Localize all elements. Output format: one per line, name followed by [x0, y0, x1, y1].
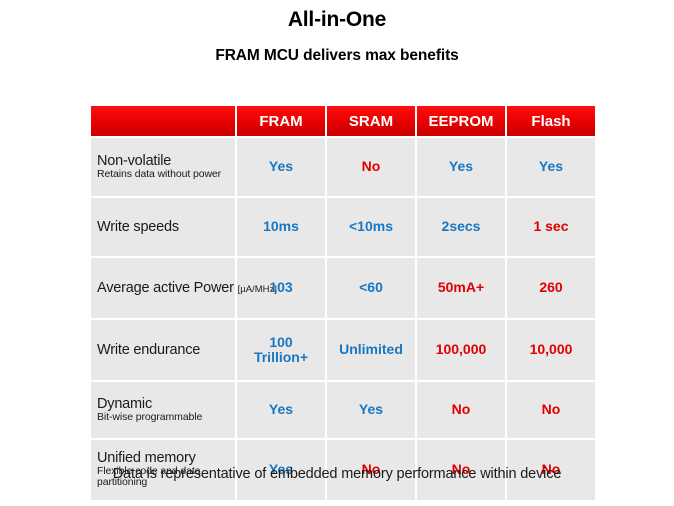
table-cell-value: No [327, 138, 415, 196]
table-cell-value: 10,000 [507, 320, 595, 380]
table-cell-value: 50mA+ [417, 258, 505, 318]
table-body: Non-volatileRetains data without powerYe… [91, 138, 595, 500]
row-label-sub: Bit-wise programmable [97, 412, 231, 424]
column-header-flash: Flash [507, 106, 595, 136]
page-subtitle: FRAM MCU delivers max benefits [0, 47, 674, 65]
row-label-cell: Write speeds [91, 198, 235, 256]
row-label-cell: Average active Power [µA/MHz] [91, 258, 235, 318]
row-label-cell: Write endurance [91, 320, 235, 380]
column-header-blank [91, 106, 235, 136]
table-row: Write endurance100Trillion+Unlimited100,… [91, 320, 595, 380]
column-header-fram: FRAM [237, 106, 325, 136]
table-cell-value: Yes [237, 138, 325, 196]
page-title: All-in-One [0, 8, 674, 32]
table-cell-value: <60 [327, 258, 415, 318]
table-cell-value: Yes [417, 138, 505, 196]
table-header-row: FRAM SRAM EEPROM Flash [91, 106, 595, 136]
table-row: Write speeds10ms<10ms2secs1 sec [91, 198, 595, 256]
table-cell-value: Unlimited [327, 320, 415, 380]
table-row: DynamicBit-wise programmableYesYesNoNo [91, 382, 595, 438]
row-label-main: Write endurance [97, 343, 231, 358]
row-label-main: Write speeds [97, 220, 231, 235]
table-cell-value: No [507, 382, 595, 438]
row-label-main: Average active Power [µA/MHz] [97, 281, 231, 296]
row-label-sub: Retains data without power [97, 169, 231, 181]
row-label-main: Unified memory [97, 451, 231, 466]
row-label-cell: DynamicBit-wise programmable [91, 382, 235, 438]
table-cell-value: No [417, 382, 505, 438]
table-row: Non-volatileRetains data without powerYe… [91, 138, 595, 196]
table-cell-value: 10ms [237, 198, 325, 256]
table-cell-value: Yes [507, 138, 595, 196]
column-header-eeprom: EEPROM [417, 106, 505, 136]
table-cell-value: <10ms [327, 198, 415, 256]
table-cell-value: 100Trillion+ [237, 320, 325, 380]
table-header: FRAM SRAM EEPROM Flash [91, 106, 595, 136]
footnote-text: Data is representative of embedded memor… [0, 466, 674, 482]
table-cell-value: 2secs [417, 198, 505, 256]
table-row: Average active Power [µA/MHz]103<6050mA+… [91, 258, 595, 318]
row-label-main: Dynamic [97, 397, 231, 412]
row-label-cell: Non-volatileRetains data without power [91, 138, 235, 196]
row-label-main: Non-volatile [97, 154, 231, 169]
table-cell-value: Yes [237, 382, 325, 438]
memory-comparison-table: FRAM SRAM EEPROM Flash Non-volatileRetai… [89, 104, 597, 502]
column-header-sram: SRAM [327, 106, 415, 136]
table-cell-value: 100,000 [417, 320, 505, 380]
table-cell-value: 1 sec [507, 198, 595, 256]
table-cell-value: 260 [507, 258, 595, 318]
table-cell-value: Yes [327, 382, 415, 438]
